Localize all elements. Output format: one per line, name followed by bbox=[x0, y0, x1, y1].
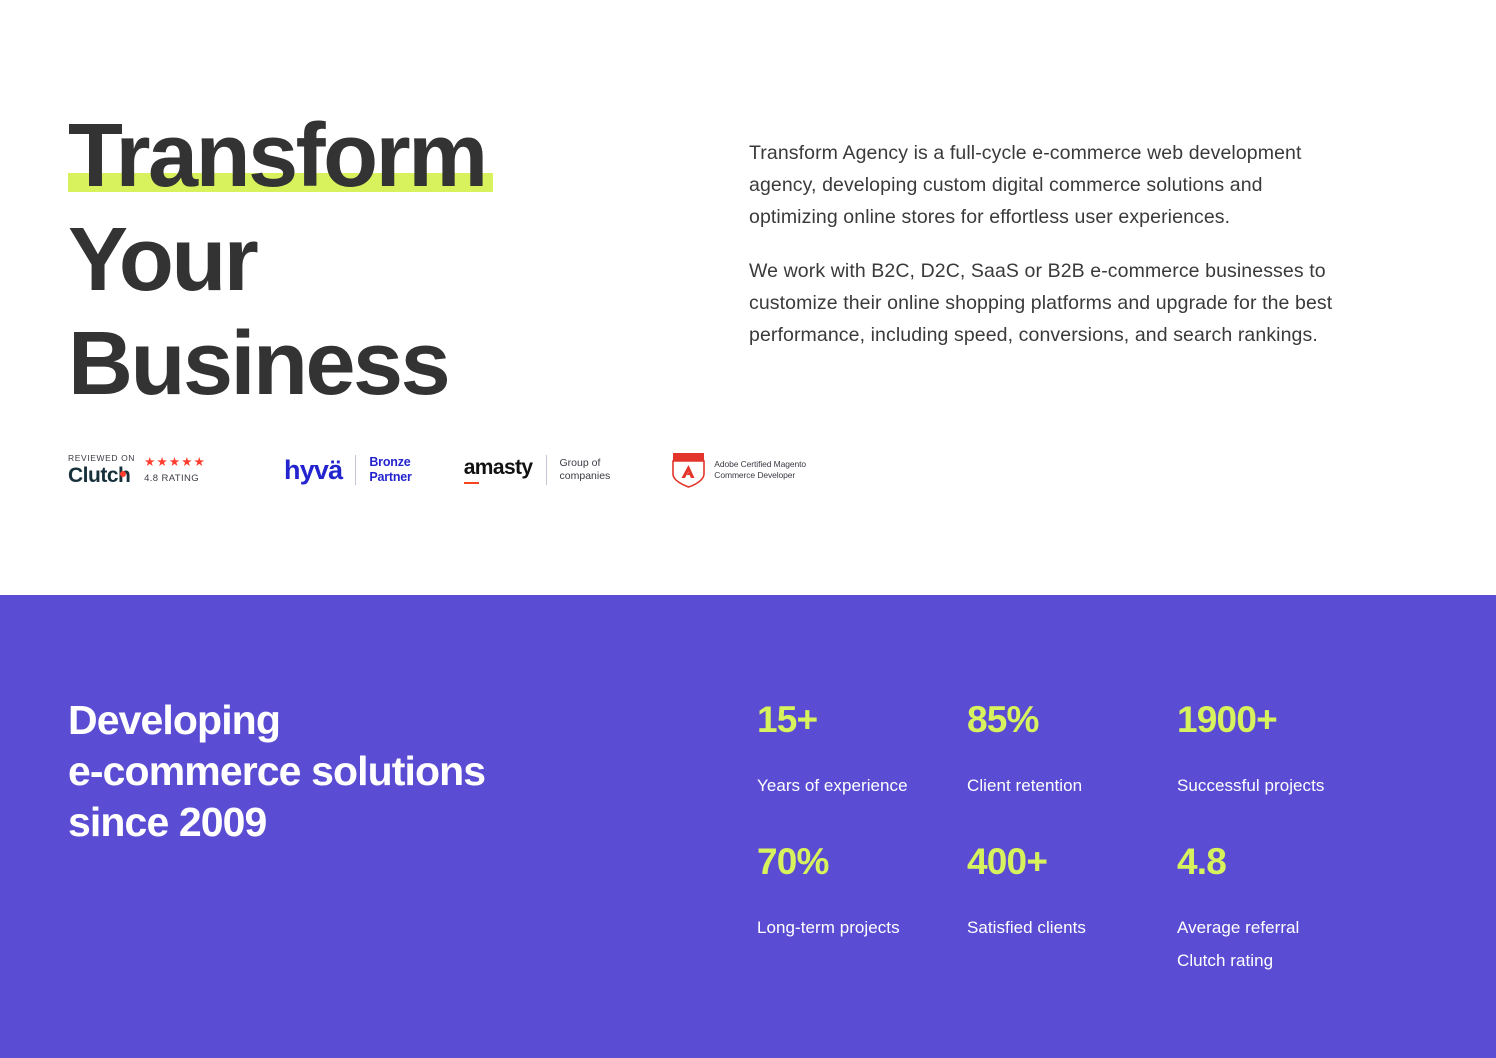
clutch-rating-value: 4.8 RATING bbox=[144, 472, 206, 486]
amasty-group-line-2: companies bbox=[560, 470, 611, 483]
partner-badges: REVIEWED ON Clutch ★★★★★ 4.8 RATING hyvä… bbox=[68, 452, 806, 488]
amasty-group-label: Group of companies bbox=[560, 457, 611, 483]
heading-line-1-text: Transform bbox=[68, 106, 486, 206]
stat-item: 85% Client retention bbox=[967, 700, 1177, 842]
page-title: Transform Your Business bbox=[68, 104, 688, 416]
stats-heading-line-3: since 2009 bbox=[68, 797, 688, 848]
hyva-wordmark: hyvä bbox=[284, 456, 342, 484]
stat-label: Client retention bbox=[967, 769, 1162, 802]
stat-item: 15+ Years of experience bbox=[757, 700, 967, 842]
stat-label: Successful projects bbox=[1177, 769, 1372, 802]
stat-label: Long-term projects bbox=[757, 911, 952, 944]
hyva-partner-line-1: Bronze bbox=[369, 455, 411, 470]
hero-paragraph-2: We work with B2C, D2C, SaaS or B2B e-com… bbox=[749, 255, 1334, 351]
stat-item: 70% Long-term projects bbox=[757, 842, 967, 977]
stat-item: 4.8 Average referral Clutch rating bbox=[1177, 842, 1427, 977]
stats-grid: 15+ Years of experience 85% Client reten… bbox=[757, 700, 1427, 977]
heading-line-1: Transform bbox=[68, 104, 486, 208]
stat-value: 85% bbox=[967, 700, 1177, 740]
heading-line-3: Business bbox=[68, 312, 688, 416]
hero-section: Transform Your Business Transform Agency… bbox=[0, 0, 1496, 595]
stat-label: Years of experience bbox=[757, 769, 952, 802]
badge-amasty[interactable]: amasty Group of companies bbox=[464, 455, 611, 485]
amasty-name: amasty bbox=[464, 456, 533, 479]
adobe-label-line-1: Adobe Certified Magento bbox=[714, 459, 806, 471]
stat-label: Satisfied clients bbox=[967, 911, 1162, 944]
badge-hyva[interactable]: hyvä Bronze Partner bbox=[284, 455, 412, 485]
clutch-rating-block: ★★★★★ 4.8 RATING bbox=[144, 455, 206, 486]
stat-value: 15+ bbox=[757, 700, 967, 740]
amasty-wordmark: amasty bbox=[464, 456, 533, 484]
stats-heading-line-1: Developing bbox=[68, 695, 688, 746]
hyva-partner-line-2: Partner bbox=[369, 470, 411, 485]
heading-line-2: Your bbox=[68, 208, 688, 312]
stat-value: 70% bbox=[757, 842, 967, 882]
hyva-divider bbox=[355, 455, 356, 485]
amasty-underline-accent bbox=[464, 482, 479, 485]
clutch-reviewed-on-label: REVIEWED ON bbox=[68, 453, 135, 464]
badge-adobe-certified[interactable]: Adobe Certified Magento Commerce Develop… bbox=[672, 452, 806, 488]
adobe-label-line-2: Commerce Developer bbox=[714, 470, 806, 482]
amasty-group-line-1: Group of bbox=[560, 457, 611, 470]
badge-clutch[interactable]: REVIEWED ON Clutch ★★★★★ 4.8 RATING bbox=[68, 453, 218, 488]
hero-paragraph-1: Transform Agency is a full-cycle e-comme… bbox=[749, 137, 1334, 233]
adobe-certification-label: Adobe Certified Magento Commerce Develop… bbox=[714, 459, 806, 482]
stat-value: 4.8 bbox=[1177, 842, 1427, 882]
star-rating-icon: ★★★★★ bbox=[144, 455, 206, 469]
clutch-logo: REVIEWED ON Clutch bbox=[68, 453, 135, 488]
stat-item: 1900+ Successful projects bbox=[1177, 700, 1427, 842]
stats-heading: Developing e-commerce solutions since 20… bbox=[68, 695, 688, 848]
stats-heading-line-2: e-commerce solutions bbox=[68, 746, 688, 797]
clutch-wordmark: Clutch bbox=[68, 464, 135, 488]
amasty-divider bbox=[546, 455, 547, 485]
adobe-shield-icon bbox=[672, 452, 705, 488]
stat-value: 400+ bbox=[967, 842, 1177, 882]
stat-item: 400+ Satisfied clients bbox=[967, 842, 1177, 977]
clutch-dot-icon bbox=[120, 471, 126, 477]
stats-section: Developing e-commerce solutions since 20… bbox=[0, 595, 1496, 1058]
landing-page: Transform Your Business Transform Agency… bbox=[0, 0, 1496, 1058]
stat-label: Average referral Clutch rating bbox=[1177, 911, 1337, 977]
hero-description: Transform Agency is a full-cycle e-comme… bbox=[749, 137, 1334, 351]
stat-value: 1900+ bbox=[1177, 700, 1427, 740]
hyva-partner-label: Bronze Partner bbox=[369, 455, 411, 485]
